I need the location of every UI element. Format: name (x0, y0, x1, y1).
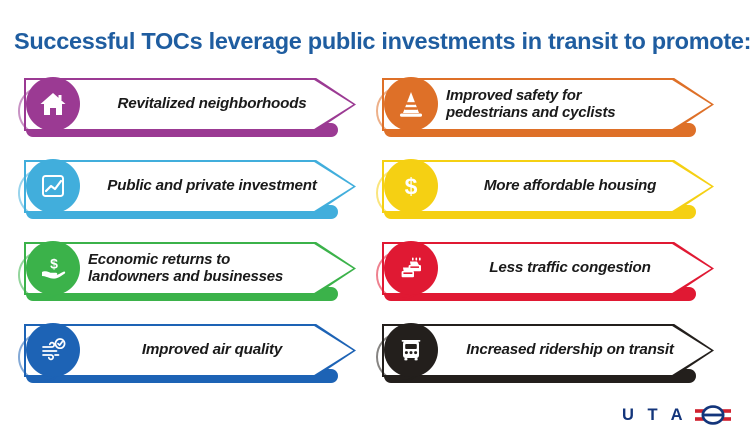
uta-logo-letters: U T A (622, 406, 687, 425)
bus-icon (384, 323, 438, 377)
traffic-cars-icon (384, 241, 438, 295)
traffic-cone-icon (384, 77, 438, 131)
benefit-badge-increased-ridership[interactable]: Increased ridership on transit (368, 320, 718, 394)
benefit-badge-economic-returns[interactable]: $ Economic returns to landowners and bus… (10, 238, 360, 312)
badge-label: Economic returns to landowners and busin… (88, 242, 336, 294)
svg-text:$: $ (405, 174, 418, 200)
badge-label-line1: Improved safety for (446, 87, 581, 104)
badge-label: Public and private investment (88, 160, 336, 212)
badge-label: Improved air quality (88, 324, 336, 376)
house-icon (26, 77, 80, 131)
badge-label-line2: landowners and businesses (88, 268, 283, 285)
benefit-badge-less-traffic-congestion[interactable]: Less traffic congestion (368, 238, 718, 312)
benefit-badge-improved-safety[interactable]: Improved safety for pedestrians and cycl… (368, 74, 718, 148)
badge-label-line2: pedestrians and cyclists (446, 104, 615, 121)
benefits-grid: Revitalized neighborhoods Improved safet… (0, 72, 750, 402)
uta-logo: U T A (622, 402, 732, 428)
dollar-coin-icon: $ (384, 159, 438, 213)
benefit-badge-affordable-housing[interactable]: $ More affordable housing (368, 156, 718, 230)
uta-oval-mark-icon (694, 404, 732, 426)
svg-text:$: $ (50, 256, 58, 272)
badge-label: More affordable housing (446, 160, 694, 212)
benefit-badge-revitalized-neighborhoods[interactable]: Revitalized neighborhoods (10, 74, 360, 148)
hand-holding-dollar-icon: $ (26, 241, 80, 295)
infographic-page: Successful TOCs leverage public investme… (0, 0, 750, 440)
badge-label-line1: Economic returns to (88, 251, 230, 268)
benefit-badge-public-private-investment[interactable]: Public and private investment (10, 156, 360, 230)
line-chart-icon (26, 159, 80, 213)
badge-label: Less traffic congestion (446, 242, 694, 294)
badge-label: Improved safety for pedestrians and cycl… (446, 78, 694, 130)
benefit-badge-improved-air-quality[interactable]: Improved air quality (10, 320, 360, 394)
air-quality-check-icon (26, 323, 80, 377)
badge-label: Increased ridership on transit (446, 324, 694, 376)
page-title: Successful TOCs leverage public investme… (14, 28, 734, 55)
badge-label: Revitalized neighborhoods (88, 78, 336, 130)
